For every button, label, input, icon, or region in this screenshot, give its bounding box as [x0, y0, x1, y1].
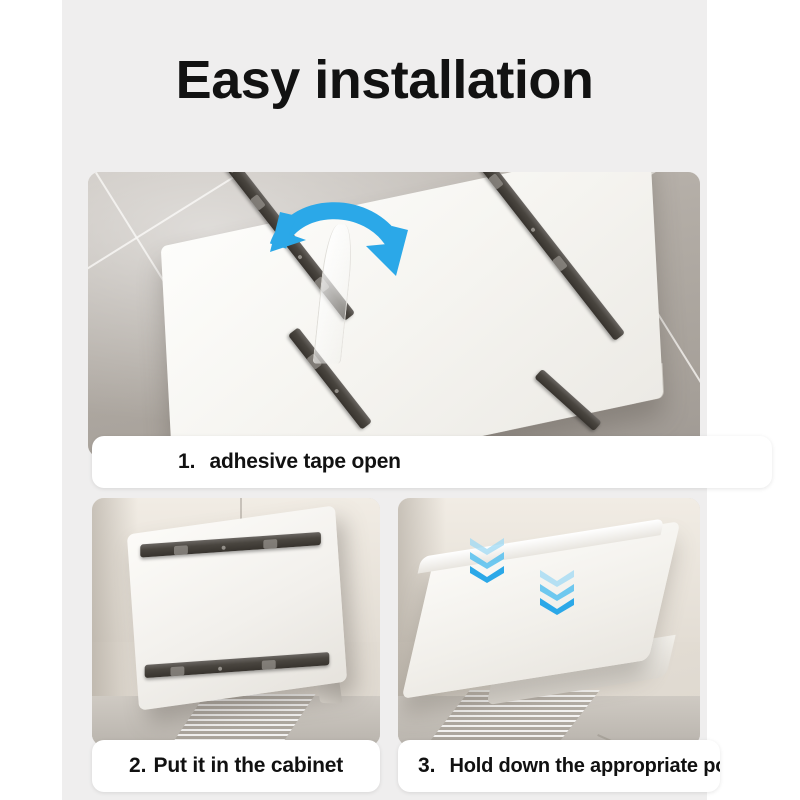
- press-chevron-stack-right: [540, 570, 574, 612]
- slide-rail-upper: [140, 532, 321, 558]
- rail-nub: [170, 666, 184, 676]
- photo-scene-top: [88, 172, 700, 457]
- rail-nub: [262, 660, 276, 670]
- rail-dot: [218, 667, 222, 671]
- tray-underside: [127, 505, 347, 710]
- step-label: Put it in the cabinet: [154, 754, 343, 778]
- step-label: adhesive tape open: [210, 450, 401, 474]
- page-title: Easy installation: [62, 52, 707, 109]
- caption-card-step-2: 2. Put it in the cabinet: [92, 740, 380, 792]
- step-number: 2.: [129, 754, 147, 778]
- drawer-slide-adhesive-tape-photo: [88, 172, 700, 457]
- caption-card-step-3: 3. Hold down the appropriate position: [398, 740, 720, 792]
- slide-rail-lower: [145, 652, 330, 678]
- tray-in-cabinet-photo: [92, 498, 380, 746]
- rail-nub: [263, 539, 277, 549]
- press-down-position-photo: [398, 498, 700, 746]
- photo-scene-bottom-left: [92, 498, 380, 746]
- page-root: Easy installation: [0, 0, 800, 800]
- rail-dot: [229, 172, 235, 173]
- press-chevron-stack-left: [470, 538, 504, 580]
- step-number: 3.: [418, 754, 436, 778]
- rail-nub: [174, 545, 188, 555]
- rail-dot: [334, 388, 340, 394]
- caption-card-step-1: 1. adhesive tape open: [92, 436, 772, 488]
- step-number: 1.: [178, 450, 196, 474]
- peel-arrow-icon: [256, 190, 426, 320]
- rail-dot: [222, 546, 226, 550]
- photo-scene-bottom-right: [398, 498, 700, 746]
- step-label: Hold down the appropriate position: [450, 755, 720, 778]
- rail-dot: [530, 227, 536, 233]
